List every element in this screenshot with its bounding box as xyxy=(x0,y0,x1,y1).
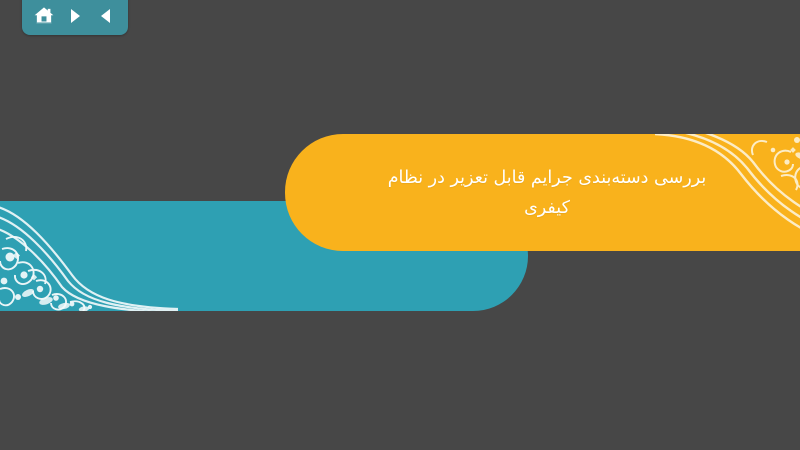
teal-arabesque-ornament xyxy=(0,201,178,311)
title-line-2: کیفری xyxy=(337,193,757,223)
forward-button[interactable] xyxy=(62,3,88,29)
presentation-slide: بررسی دسته‌بندی جرایم قابل تعزیر در نظام… xyxy=(0,0,800,450)
home-icon xyxy=(33,5,55,27)
navigation-toolbar xyxy=(22,0,128,35)
page-title: بررسی دسته‌بندی جرایم قابل تعزیر در نظام… xyxy=(337,163,757,223)
orange-title-band: بررسی دسته‌بندی جرایم قابل تعزیر در نظام… xyxy=(285,134,800,251)
home-button[interactable] xyxy=(31,3,57,29)
triangle-left-icon xyxy=(96,6,116,26)
triangle-right-icon xyxy=(65,6,85,26)
title-line-1: بررسی دسته‌بندی جرایم قابل تعزیر در نظام xyxy=(337,163,757,193)
back-button[interactable] xyxy=(93,3,119,29)
